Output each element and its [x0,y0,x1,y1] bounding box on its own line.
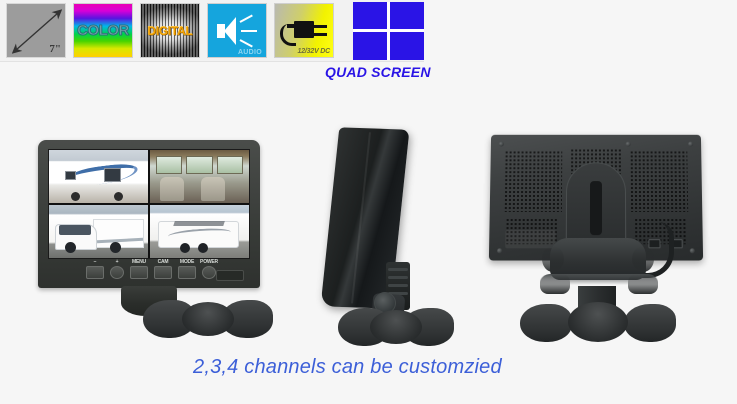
rear-screw [690,248,695,253]
side-stand-base [340,306,452,346]
monitor-button-row: − + MENU CAM MODE POWER [48,266,250,286]
rear-mount-arch [566,162,626,244]
rv-tire [65,242,76,253]
display-quadrant-top-left [49,150,148,203]
base-wing-right [624,304,676,342]
monitor-button-plus-label: + [116,259,119,265]
sound-wave-icon [240,39,253,47]
rear-screw [688,142,693,147]
interior-chair [160,177,184,201]
monitor-button-mode[interactable]: MODE [178,266,196,279]
badge-digital: DIGITAL [140,3,200,58]
rear-stand-base [524,300,672,344]
monitor-button-cam-label: CAM [158,259,169,265]
interior-chair [201,177,225,201]
badge-screen-size: 7" [6,3,66,58]
connector-ridge [388,284,408,287]
rv-windshield [59,225,91,235]
monitor-button-menu-label: MENU [132,259,146,265]
quad-display-screen [48,149,250,259]
badge-digital-label: DIGITAL [147,24,192,38]
power-plug-icon [294,21,314,38]
rv-tire [110,242,121,253]
base-hub [568,302,628,342]
monitor-button-cam[interactable]: CAM [154,266,172,279]
quad-cell-icon [353,2,387,30]
rv-window [65,171,76,180]
quad-cell-icon [390,2,424,30]
interior-window [217,156,243,174]
axle-cylinder-left [540,274,570,294]
badge-power: 12/32V DC [274,3,334,58]
display-quadrant-bottom-left [49,205,148,258]
interior-window [156,156,182,174]
connector-ridge [388,268,408,271]
product-image-canvas: 7" COLOR DIGITAL AUDIO 12/32V DC [0,0,737,404]
rv-window [104,168,121,182]
feature-badge-strip: 7" COLOR DIGITAL AUDIO 12/32V DC [0,0,424,62]
badge-color-label: COLOR [77,22,129,39]
rear-mount-slot [590,181,602,235]
bottom-caption: 2,3,4 channels can be customzied [193,356,502,379]
badge-audio: AUDIO [207,3,267,58]
monitor-button-mode-label: MODE [180,259,194,265]
monitor-rear-view [490,134,702,344]
quad-screen-heading: QUAD SCREEN [325,64,431,80]
sound-wave-icon [241,30,257,32]
rv-wheel [71,192,80,201]
monitor-front-view: − + MENU CAM MODE POWER [38,140,260,288]
monitor-button-minus-label: − [94,259,97,265]
badge-color: COLOR [73,3,133,58]
rear-screw [499,142,504,147]
speaker-vent-left [504,150,562,212]
sound-wave-icon [240,15,253,23]
plug-pin-icon [314,33,327,36]
badge-quad-screen [353,2,424,60]
front-stand-base [149,300,267,342]
base-hub [370,310,422,344]
rv-swoosh-graphic [66,162,139,189]
base-wing-left [520,304,572,342]
trailer-decal [173,221,224,226]
axle-cylinder-right [628,274,658,294]
plug-pin-icon [314,25,327,28]
connector-ridge [388,276,408,279]
base-hub [182,302,234,336]
speaker-vent-right [630,150,688,212]
monitor-button-power[interactable]: POWER [202,266,216,279]
quad-cell-icon [390,32,424,60]
badge-audio-label: AUDIO [238,49,262,56]
quad-cell-icon [353,32,387,60]
rear-screw [626,142,631,147]
badge-power-label: 12/32V DC [298,48,330,55]
interior-window [186,156,214,174]
rv-wheel [114,192,123,201]
monitor-button-plus[interactable]: + [110,266,124,279]
display-quadrant-bottom-right [150,205,249,258]
rear-spec-label [505,230,556,248]
monitor-button-power-label: POWER [200,259,218,265]
monitor-button-minus[interactable]: − [86,266,104,279]
rear-screw [497,248,502,253]
trailer-tire [180,243,190,253]
monitor-button-menu[interactable]: MENU [130,266,148,279]
infrared-receiver-window [216,270,244,281]
speaker-cone-icon [224,17,236,45]
monitor-side-view [296,112,486,342]
badge-screen-size-label: 7" [49,43,61,55]
trailer-tire [198,243,208,253]
display-quadrant-top-right [150,150,249,203]
